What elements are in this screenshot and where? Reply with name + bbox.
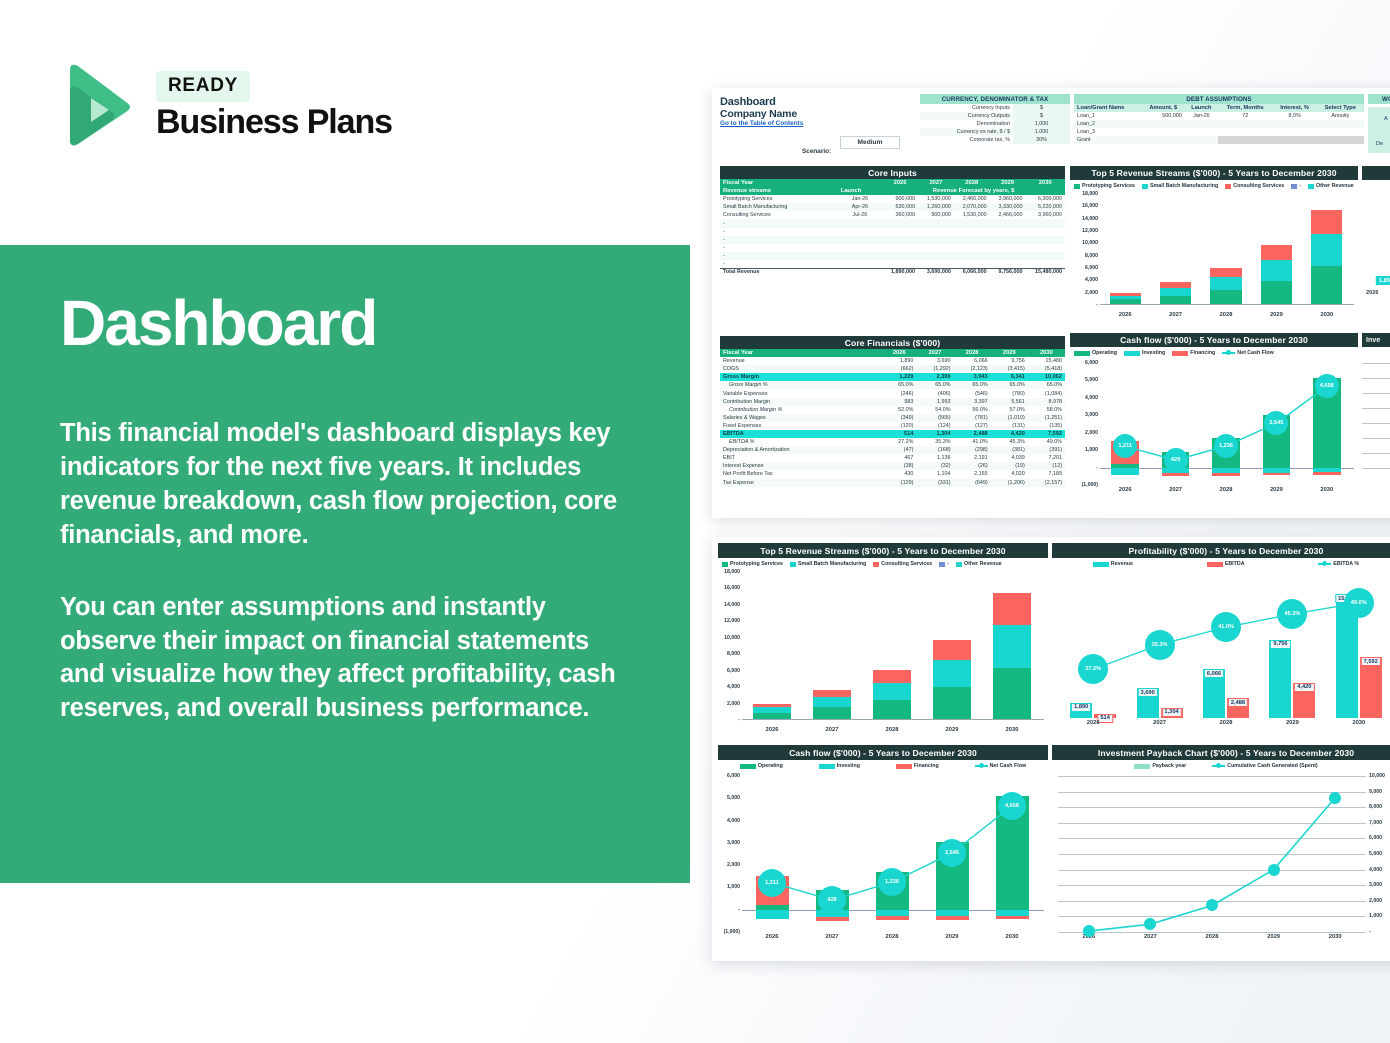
debt-cell: Loan_1 bbox=[1074, 112, 1142, 120]
chart-cash-flow-bottom: Cash flow ($'000) - 5 Years to December … bbox=[718, 745, 1048, 955]
column-header: Fiscal Year bbox=[720, 179, 882, 187]
table-row: Contribution Margin %52.0%54.0%56.0%57.0… bbox=[720, 406, 1065, 414]
stream-value[interactable]: 3,960,000 bbox=[1026, 211, 1065, 219]
legend-swatch bbox=[1074, 351, 1090, 356]
x-axis-line bbox=[1100, 304, 1354, 305]
y-axis-tick: 10,000 bbox=[1082, 240, 1098, 246]
y-axis-tick: 12,000 bbox=[724, 618, 740, 624]
stream-value[interactable] bbox=[990, 219, 1026, 227]
row-value: 15,480 bbox=[1028, 357, 1065, 365]
data-label-ebitda: 7,592 bbox=[1361, 657, 1381, 666]
legend-swatch bbox=[819, 764, 835, 769]
row-value: (298) bbox=[954, 446, 991, 454]
core-inputs-title: Core Inputs bbox=[720, 166, 1065, 179]
row-label: Revenue bbox=[720, 357, 882, 365]
table-row: - bbox=[720, 252, 1065, 260]
gridline bbox=[1058, 932, 1366, 933]
row-value: 56.0% bbox=[954, 406, 991, 414]
row-value: (32) bbox=[916, 462, 953, 470]
row-value: 430 bbox=[882, 470, 916, 478]
x-axis-tick: 2026 bbox=[1119, 312, 1132, 318]
intro-paragraph-1: This financial model's dashboard display… bbox=[60, 417, 640, 553]
y-axis-tick: 16,000 bbox=[724, 585, 740, 591]
cumulative-cash-point bbox=[1083, 925, 1095, 937]
stream-value[interactable] bbox=[1026, 219, 1065, 227]
y-axis-tick: 6,000 bbox=[1085, 265, 1098, 271]
core-financials-title: Core Financials ($'000) bbox=[720, 336, 1065, 349]
working-capital-title: WOR bbox=[1368, 94, 1390, 104]
row-value: 1,229 bbox=[882, 373, 916, 381]
stream-value[interactable] bbox=[990, 244, 1026, 252]
y-axis-tick: 5,000 bbox=[1369, 851, 1382, 857]
x-axis-tick: 2026 bbox=[766, 934, 779, 940]
legend-item: - bbox=[939, 561, 949, 567]
row-value: (3,415) bbox=[991, 365, 1028, 373]
y-axis-tick: 5,000 bbox=[1085, 377, 1098, 383]
table-row: Prototyping ServicesJan-26900,0001,530,0… bbox=[720, 195, 1065, 203]
row-value: (406) bbox=[916, 389, 953, 397]
legend-item: Investing bbox=[819, 763, 860, 769]
stream-launch[interactable] bbox=[838, 244, 882, 252]
y-axis-tick: 1,000 bbox=[1085, 447, 1098, 453]
bar-segment-consulting-services bbox=[1261, 245, 1292, 260]
ebitda-pct-point: 49.0% bbox=[1344, 588, 1374, 618]
stream-value[interactable] bbox=[1026, 236, 1065, 244]
y-axis-tick: 4,000 bbox=[1085, 395, 1098, 401]
legend-label: - bbox=[1299, 183, 1301, 189]
stream-value[interactable] bbox=[918, 219, 954, 227]
data-label-revenue: 6,066 bbox=[1204, 669, 1224, 678]
row-value: 65.0% bbox=[1028, 381, 1065, 389]
row-label: Contribution Margin % bbox=[720, 406, 882, 414]
stream-value[interactable] bbox=[918, 228, 954, 236]
stream-launch[interactable] bbox=[838, 219, 882, 227]
x-axis-tick: 2030 bbox=[1006, 934, 1019, 940]
gridline bbox=[1058, 870, 1366, 871]
legend-item: Consulting Services bbox=[1225, 183, 1284, 189]
stream-value[interactable] bbox=[1026, 260, 1065, 268]
bar-financing bbox=[1212, 473, 1240, 476]
row-value: 1,993 bbox=[916, 398, 953, 406]
currency-value: 30% bbox=[1013, 136, 1070, 144]
legend-label: Investing bbox=[837, 763, 860, 769]
stream-value[interactable] bbox=[954, 219, 990, 227]
x-axis-tick: 2030 bbox=[1320, 312, 1333, 318]
row-value: 65.0% bbox=[954, 381, 991, 389]
row-label: Gross Margin % bbox=[720, 381, 882, 389]
row-value: 3,397 bbox=[954, 398, 991, 406]
row-label: Salaries & Wages bbox=[720, 414, 882, 422]
legend-label: Financing bbox=[1190, 350, 1215, 356]
y-axis-tick: 5,000 bbox=[727, 795, 740, 801]
stream-value[interactable]: 6,300,000 bbox=[1026, 195, 1065, 203]
row-value: (349) bbox=[882, 414, 916, 422]
bar-group bbox=[753, 704, 790, 720]
legend-swatch bbox=[1318, 563, 1331, 565]
debt-cell bbox=[1317, 120, 1364, 128]
legend-label: Prototyping Services bbox=[730, 561, 783, 567]
net-cash-flow-point: 4,658 bbox=[998, 792, 1026, 820]
stream-name: - bbox=[720, 219, 838, 227]
bar-segment-small-batch-manufacturing bbox=[1160, 288, 1191, 296]
total-value: 1,890,000 bbox=[882, 268, 918, 276]
table-row: Depreciation & Amortization(47)(168)(298… bbox=[720, 446, 1065, 454]
stream-value[interactable] bbox=[954, 260, 990, 268]
row-value: 514 bbox=[882, 430, 916, 438]
stream-value[interactable] bbox=[954, 228, 990, 236]
page-title: Dashboard bbox=[60, 291, 640, 355]
stream-launch[interactable]: Jan-26 bbox=[838, 195, 882, 203]
bar-ebitda bbox=[1360, 657, 1382, 718]
legend-item: Prototyping Services bbox=[1074, 183, 1135, 189]
y-axis-tick: 6,000 bbox=[727, 668, 740, 674]
net-cash-flow-point: 2,545 bbox=[938, 839, 966, 867]
table-row: Gross Margin %65.0%65.0%65.0%65.0%65.0% bbox=[720, 381, 1065, 389]
table-row: Gross Margin1,2292,3993,9436,34110,062 bbox=[720, 373, 1065, 381]
row-value: 49.0% bbox=[1028, 438, 1065, 446]
stream-value[interactable]: 1,530,000 bbox=[954, 211, 990, 219]
stream-launch[interactable]: Apr-26 bbox=[838, 203, 882, 211]
net-cash-flow-point: 1,236 bbox=[1214, 434, 1238, 458]
legend-item: Prototyping Services bbox=[722, 561, 783, 567]
bar-group bbox=[813, 690, 850, 720]
debt-cell: Loan_3 bbox=[1074, 128, 1142, 136]
row-value: (780) bbox=[991, 389, 1028, 397]
x-axis-tick: 2028 bbox=[1220, 312, 1233, 318]
stream-value[interactable]: 1,530,000 bbox=[918, 195, 954, 203]
table-row: Currency Outputs$ bbox=[920, 112, 1070, 120]
data-label-ebitda: 4,420 bbox=[1294, 683, 1314, 692]
slide-canvas: READY Business Plans Dashboard This fina… bbox=[0, 0, 1390, 1043]
bar-segment-prototyping-services bbox=[1261, 281, 1292, 305]
bar-financing bbox=[876, 916, 909, 920]
brand-logo: READY Business Plans bbox=[60, 62, 392, 148]
column-header: Select Type bbox=[1317, 104, 1364, 112]
row-value: (19) bbox=[991, 462, 1028, 470]
toc-link[interactable]: Go to the Table of Contents bbox=[720, 120, 803, 127]
bar-segment-consulting-services bbox=[753, 704, 790, 707]
row-value: (38) bbox=[882, 462, 916, 470]
bar-financing bbox=[1162, 473, 1190, 476]
row-value: 1,104 bbox=[916, 470, 953, 478]
bar-revenue bbox=[1269, 640, 1291, 718]
legend-item: EBITDA % bbox=[1318, 561, 1359, 567]
table-row: Variable Expenses(246)(406)(546)(780)(1,… bbox=[720, 389, 1065, 397]
stream-name: - bbox=[720, 244, 838, 252]
chart-cutoff-right-top: 27.2% 1,890 2026 bbox=[1362, 166, 1390, 326]
legend-item: Small Batch Manufacturing bbox=[790, 561, 866, 567]
stream-value[interactable]: 2,466,000 bbox=[990, 211, 1026, 219]
legend-swatch bbox=[1093, 562, 1109, 567]
row-value: (331) bbox=[916, 479, 953, 487]
debt-cell: Annuity bbox=[1317, 112, 1364, 120]
stream-value[interactable] bbox=[1026, 244, 1065, 252]
stream-launch[interactable] bbox=[838, 260, 882, 268]
x-axis-tick: 2029 bbox=[1286, 720, 1299, 726]
gridline bbox=[1058, 792, 1366, 793]
x-axis-tick: 2030 bbox=[1329, 934, 1342, 940]
stream-value[interactable] bbox=[918, 244, 954, 252]
row-value: 35.3% bbox=[916, 438, 953, 446]
table-header-row: Fiscal Year20262027202820292030 bbox=[720, 179, 1065, 187]
table-header-row: Fiscal Year20262027202820292030 bbox=[720, 349, 1065, 357]
stream-value[interactable]: 3,960,000 bbox=[990, 195, 1026, 203]
stream-name: - bbox=[720, 252, 838, 260]
legend-label: Operating bbox=[758, 763, 783, 769]
stream-value[interactable] bbox=[882, 244, 918, 252]
bar-segment-small-batch-manufacturing bbox=[813, 697, 850, 707]
wc-row-2: De bbox=[1376, 141, 1383, 147]
x-axis-tick: 2027 bbox=[826, 727, 839, 733]
legend-item: Cumulative Cash Generated (Spent) bbox=[1212, 763, 1317, 769]
row-value: 3,690 bbox=[916, 357, 953, 365]
chart-legend: OperatingInvestingFinancingNet Cash Flow bbox=[1070, 347, 1358, 357]
currency-value: $ bbox=[1013, 104, 1070, 112]
debt-cell bbox=[1142, 128, 1185, 136]
row-label: Fixed Expenses bbox=[720, 422, 882, 430]
debt-cell: 72 bbox=[1218, 112, 1272, 120]
bar-group bbox=[993, 593, 1030, 720]
legend-label: Revenue bbox=[1111, 561, 1133, 567]
y-axis-tick: 18,000 bbox=[1082, 191, 1098, 197]
row-value: 9,756 bbox=[991, 357, 1028, 365]
row-value: (1,010) bbox=[991, 414, 1028, 422]
legend-item: Consulting Services bbox=[873, 561, 932, 567]
stream-value[interactable] bbox=[1026, 228, 1065, 236]
stream-value[interactable]: 5,220,000 bbox=[1026, 203, 1065, 211]
year-header: 2030 bbox=[1028, 349, 1065, 357]
row-value: (168) bbox=[916, 446, 953, 454]
stream-value[interactable] bbox=[1026, 252, 1065, 260]
cumulative-cash-point bbox=[1206, 899, 1218, 911]
stream-value[interactable] bbox=[990, 228, 1026, 236]
currency-table-title: CURRENCY, DENOMINATOR & TAX bbox=[920, 94, 1070, 104]
sheet-header: Dashboard Company Name Go to the Table o… bbox=[720, 96, 803, 127]
row-value: 8,978 bbox=[1028, 398, 1065, 406]
bar-group bbox=[1261, 245, 1292, 305]
legend-label: Investing bbox=[1142, 350, 1165, 356]
bar-segment-prototyping-services bbox=[1210, 290, 1241, 305]
stream-launch[interactable]: Jul-26 bbox=[838, 211, 882, 219]
stream-value[interactable]: 2,466,000 bbox=[954, 195, 990, 203]
stream-value[interactable]: 360,000 bbox=[882, 211, 918, 219]
row-label: Tax Expense bbox=[720, 479, 882, 487]
row-value: 52.0% bbox=[882, 406, 916, 414]
bar-group bbox=[1160, 282, 1191, 305]
row-value: 7,189 bbox=[1028, 470, 1065, 478]
data-label-revenue: 3,690 bbox=[1138, 688, 1158, 697]
table-row: - bbox=[720, 244, 1065, 252]
column-header: Launch bbox=[838, 187, 882, 195]
net-cash-flow-point: 429 bbox=[1164, 448, 1188, 472]
stream-name: Prototyping Services bbox=[720, 195, 838, 203]
chart-title: Cash flow ($'000) - 5 Years to December … bbox=[718, 745, 1048, 760]
row-value: 65.0% bbox=[882, 381, 916, 389]
stream-value[interactable] bbox=[882, 236, 918, 244]
debt-cell bbox=[1142, 120, 1185, 128]
row-value: (127) bbox=[954, 422, 991, 430]
stream-value[interactable] bbox=[954, 236, 990, 244]
data-label-ebitda: 1,304 bbox=[1161, 708, 1181, 717]
stream-value[interactable]: 2,070,000 bbox=[954, 203, 990, 211]
chart-title: Cash flow ($'000) - 5 Years to December … bbox=[1070, 333, 1358, 347]
table-row: Salaries & Wages(349)(565)(781)(1,010)(1… bbox=[720, 414, 1065, 422]
bar-financing bbox=[1313, 472, 1341, 474]
stream-value[interactable] bbox=[918, 236, 954, 244]
cumulative-cash-point bbox=[1329, 792, 1341, 804]
brand-name: Business Plans bbox=[156, 105, 392, 139]
y-axis-tick: 8,000 bbox=[1369, 804, 1382, 810]
column-header: Revenue streams bbox=[720, 187, 838, 195]
row-value: 1,890 bbox=[882, 357, 916, 365]
stream-value[interactable]: 900,000 bbox=[918, 211, 954, 219]
row-value: (1,084) bbox=[1028, 389, 1065, 397]
table-row: Contribution Margin9831,9933,3975,5618,9… bbox=[720, 398, 1065, 406]
row-value: 7,201 bbox=[1028, 454, 1065, 462]
legend-swatch bbox=[1225, 184, 1231, 189]
row-value: 1,304 bbox=[916, 430, 953, 438]
table-row: Loan_3 bbox=[1074, 128, 1364, 136]
bar-segment-small-batch-manufacturing bbox=[993, 625, 1030, 668]
debt-cell bbox=[1273, 136, 1317, 144]
legend-label: Small Batch Manufacturing bbox=[1150, 183, 1218, 189]
gridline bbox=[1058, 807, 1366, 808]
stream-value[interactable] bbox=[990, 252, 1026, 260]
row-value: 65.0% bbox=[916, 381, 953, 389]
legend-swatch bbox=[790, 562, 796, 567]
chart-cutoff-right-bottom: Inve bbox=[1362, 333, 1390, 508]
y-axis-tick: 10,000 bbox=[1369, 773, 1385, 779]
y-axis-tick: 2,000 bbox=[727, 862, 740, 868]
chart-legend: OperatingInvestingFinancingNet Cash Flow bbox=[718, 760, 1048, 770]
x-axis-tick: 2027 bbox=[1144, 934, 1157, 940]
row-value: (12) bbox=[1028, 462, 1065, 470]
row-value: (5,418) bbox=[1028, 365, 1065, 373]
table-row: Currency Inputs$ bbox=[920, 104, 1070, 112]
legend-label: Net Cash Flow bbox=[1237, 350, 1274, 356]
table-row: Revenue1,8903,6906,0669,75615,480 bbox=[720, 357, 1065, 365]
column-header: Revenue Forecast by years, $ bbox=[882, 187, 1065, 195]
table-row: EBITDA %27.2%35.3%41.0%45.3%49.0% bbox=[720, 438, 1065, 446]
legend-swatch bbox=[939, 562, 945, 567]
legend-item: Small Batch Manufacturing bbox=[1142, 183, 1218, 189]
stream-value[interactable] bbox=[882, 252, 918, 260]
net-cash-flow-point: 2,545 bbox=[1264, 411, 1288, 435]
legend-swatch bbox=[1172, 351, 1188, 356]
stream-value[interactable] bbox=[990, 236, 1026, 244]
debt-cell bbox=[1185, 120, 1218, 128]
legend-swatch bbox=[1308, 184, 1314, 189]
ebitda-pct-point: 35.3% bbox=[1145, 630, 1175, 660]
debt-cell bbox=[1142, 136, 1185, 144]
stream-launch[interactable] bbox=[838, 228, 882, 236]
currency-value: 1.000 bbox=[1013, 128, 1070, 136]
stream-launch[interactable] bbox=[838, 252, 882, 260]
bar-group bbox=[873, 670, 910, 720]
chart-title-cut bbox=[1362, 166, 1390, 180]
stream-value[interactable] bbox=[882, 260, 918, 268]
row-value: 27.2% bbox=[882, 438, 916, 446]
debt-table: DEBT ASSUMPTIONS Loan/Grant NameAmount, … bbox=[1074, 94, 1364, 144]
row-value: 2,191 bbox=[954, 454, 991, 462]
stream-value[interactable] bbox=[990, 260, 1026, 268]
row-label: EBIT bbox=[720, 454, 882, 462]
column-header: Launch bbox=[1185, 104, 1218, 112]
y-axis-tick: 18,000 bbox=[724, 569, 740, 575]
row-label: COGS bbox=[720, 365, 882, 373]
legend-swatch bbox=[1222, 352, 1235, 354]
y-axis-tick: - bbox=[738, 717, 740, 723]
stream-value[interactable] bbox=[918, 260, 954, 268]
stream-name: Consulting Services bbox=[720, 211, 838, 219]
x-axis-tick: 2028 bbox=[886, 727, 899, 733]
stream-value[interactable] bbox=[918, 252, 954, 260]
stream-name: - bbox=[720, 236, 838, 244]
stream-value[interactable] bbox=[954, 252, 990, 260]
row-value: 41.0% bbox=[954, 438, 991, 446]
table-row: COGS(662)(1,292)(2,123)(3,415)(5,418) bbox=[720, 365, 1065, 373]
stream-value[interactable]: 900,000 bbox=[882, 195, 918, 203]
y-axis-tick: 4,000 bbox=[727, 684, 740, 690]
table-row: Loan_1500,000Jan-26728.0%Annuity bbox=[1074, 112, 1364, 120]
table-row: - bbox=[720, 219, 1065, 227]
intro-panel: Dashboard This financial model's dashboa… bbox=[0, 245, 690, 883]
table-row: EBITDA5141,3042,4884,4207,592 bbox=[720, 430, 1065, 438]
row-value: 983 bbox=[882, 398, 916, 406]
ebitda-pct-point: 45.3% bbox=[1277, 599, 1307, 629]
chart-revenue-streams-bottom: Top 5 Revenue Streams ($'000) - 5 Years … bbox=[718, 543, 1048, 741]
scenario-label: Scenario: bbox=[802, 140, 831, 158]
ebitda-pct-point: 27.2% bbox=[1078, 654, 1108, 684]
legend-label: EBITDA bbox=[1225, 561, 1245, 567]
core-inputs-table: Core Inputs Fiscal Year20262027202820292… bbox=[720, 166, 1065, 276]
stream-value[interactable]: 3,330,000 bbox=[990, 203, 1026, 211]
legend-item: Other Revenue bbox=[956, 561, 1002, 567]
row-value: (391) bbox=[1028, 446, 1065, 454]
stream-value[interactable] bbox=[882, 228, 918, 236]
stream-value[interactable] bbox=[954, 244, 990, 252]
legend-item: Other Revenue bbox=[1308, 183, 1354, 189]
table-row: Grant bbox=[1074, 136, 1364, 144]
table-row: Denomination1,000 bbox=[920, 120, 1070, 128]
chart-cash-flow-top: Cash flow ($'000) - 5 Years to December … bbox=[1070, 333, 1358, 508]
row-value: 4,420 bbox=[991, 430, 1028, 438]
y-axis-tick: 2,000 bbox=[1369, 898, 1382, 904]
y-axis-tick: 2,000 bbox=[727, 701, 740, 707]
y-axis-tick: 4,000 bbox=[1085, 277, 1098, 283]
row-value: 54.0% bbox=[916, 406, 953, 414]
working-capital-table: WOR A De bbox=[1368, 94, 1390, 153]
legend-label: Cumulative Cash Generated (Spent) bbox=[1227, 763, 1317, 769]
year-header: 2030 bbox=[1026, 179, 1065, 187]
chart-title: Top 5 Revenue Streams ($'000) - 5 Years … bbox=[1070, 166, 1358, 180]
stream-value[interactable] bbox=[882, 219, 918, 227]
legend-swatch bbox=[1124, 351, 1140, 356]
bar-investing bbox=[876, 910, 909, 917]
debt-cell bbox=[1185, 128, 1218, 136]
stream-launch[interactable] bbox=[838, 236, 882, 244]
row-label: EBITDA % bbox=[720, 438, 882, 446]
row-value: 58.0% bbox=[1028, 406, 1065, 414]
stream-value[interactable]: 630,000 bbox=[882, 203, 918, 211]
row-value: (26) bbox=[954, 462, 991, 470]
x-axis-tick: 2030 bbox=[1352, 720, 1365, 726]
year-header: 2028 bbox=[954, 179, 990, 187]
stream-value[interactable]: 1,260,000 bbox=[918, 203, 954, 211]
bar-segment-consulting-services bbox=[1210, 268, 1241, 277]
net-cash-flow-point: 4,658 bbox=[1315, 374, 1339, 398]
scenario-select[interactable]: Medium bbox=[840, 136, 900, 149]
